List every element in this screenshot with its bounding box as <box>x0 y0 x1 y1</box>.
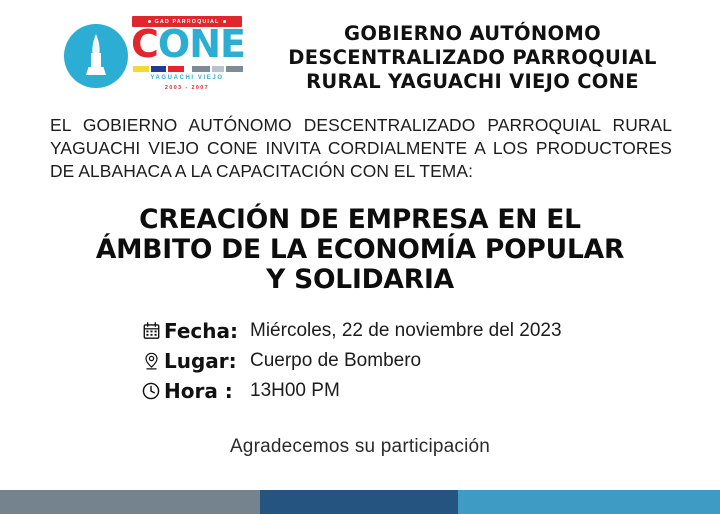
calendar-icon <box>138 322 164 339</box>
bar-red <box>168 66 184 72</box>
logo-parish-name: YAGUACHI VIEJO <box>132 75 242 81</box>
footer-color-bar <box>0 490 720 514</box>
time-label: Hora : <box>164 379 242 403</box>
event-details: Fecha: Miércoles, 22 de noviembre del 20… <box>0 316 720 406</box>
institution-title: GOBIERNO AUTÓNOMO DESCENTRALIZADO PARROQ… <box>263 14 696 95</box>
bar-spacer <box>186 66 191 72</box>
bar-gray-1 <box>192 66 209 72</box>
institution-title-line-1: GOBIERNO AUTÓNOMO <box>263 22 682 46</box>
institution-title-line-2: DESCENTRALIZADO PARROQUIAL <box>263 46 682 70</box>
logo-years: 2003 - 2007 <box>132 85 242 91</box>
bar-gray-2 <box>212 66 224 72</box>
topic-line-2: ÁMBITO DE LA ECONOMÍA POPULAR <box>30 235 690 265</box>
logo-letters-one: ONE <box>158 22 245 66</box>
footer-segment-gray <box>0 490 260 514</box>
gad-cone-logo: GAD PARROQUIAL CONE YAGUACHI VIEJO 2003 … <box>60 14 245 100</box>
clock-icon <box>138 382 164 400</box>
detail-row-time: Hora : 13H00 PM <box>138 376 720 406</box>
thanks-message: Agradecemos su participación <box>0 436 720 458</box>
monument-icon <box>86 34 106 80</box>
training-topic: CREACIÓN DE EMPRESA EN EL ÁMBITO DE LA E… <box>30 205 690 296</box>
flyer-header: GAD PARROQUIAL CONE YAGUACHI VIEJO 2003 … <box>0 0 720 100</box>
footer-segment-light-blue <box>458 490 720 514</box>
bar-yellow <box>133 66 149 72</box>
place-value: Cuerpo de Bombero <box>250 350 421 372</box>
map-pin-icon <box>138 352 164 370</box>
bar-gray-3 <box>226 66 243 72</box>
invitation-flyer: GAD PARROQUIAL CONE YAGUACHI VIEJO 2003 … <box>0 0 720 514</box>
invitation-paragraph: EL GOBIERNO AUTÓNOMO DESCENTRALIZADO PAR… <box>50 114 672 183</box>
bar-blue <box>151 66 167 72</box>
date-value: Miércoles, 22 de noviembre del 2023 <box>250 320 562 342</box>
footer-segment-dark-blue <box>260 490 458 514</box>
topic-line-1: CREACIÓN DE EMPRESA EN EL <box>30 205 690 235</box>
logo-cone-word: CONE <box>131 25 245 63</box>
detail-row-date: Fecha: Miércoles, 22 de noviembre del 20… <box>138 316 720 346</box>
logo-letter-c: C <box>131 22 158 66</box>
institution-title-line-3: RURAL YAGUACHI VIEJO CONE <box>263 70 682 94</box>
place-label: Lugar: <box>164 349 242 373</box>
detail-row-place: Lugar: Cuerpo de Bombero <box>138 346 720 376</box>
topic-line-3: Y SOLIDARIA <box>30 265 690 295</box>
time-value: 13H00 PM <box>250 380 340 402</box>
logo-color-bars <box>133 66 243 72</box>
date-label: Fecha: <box>164 319 242 343</box>
logo-wordmark: GAD PARROQUIAL CONE YAGUACHI VIEJO 2003 … <box>132 14 244 100</box>
